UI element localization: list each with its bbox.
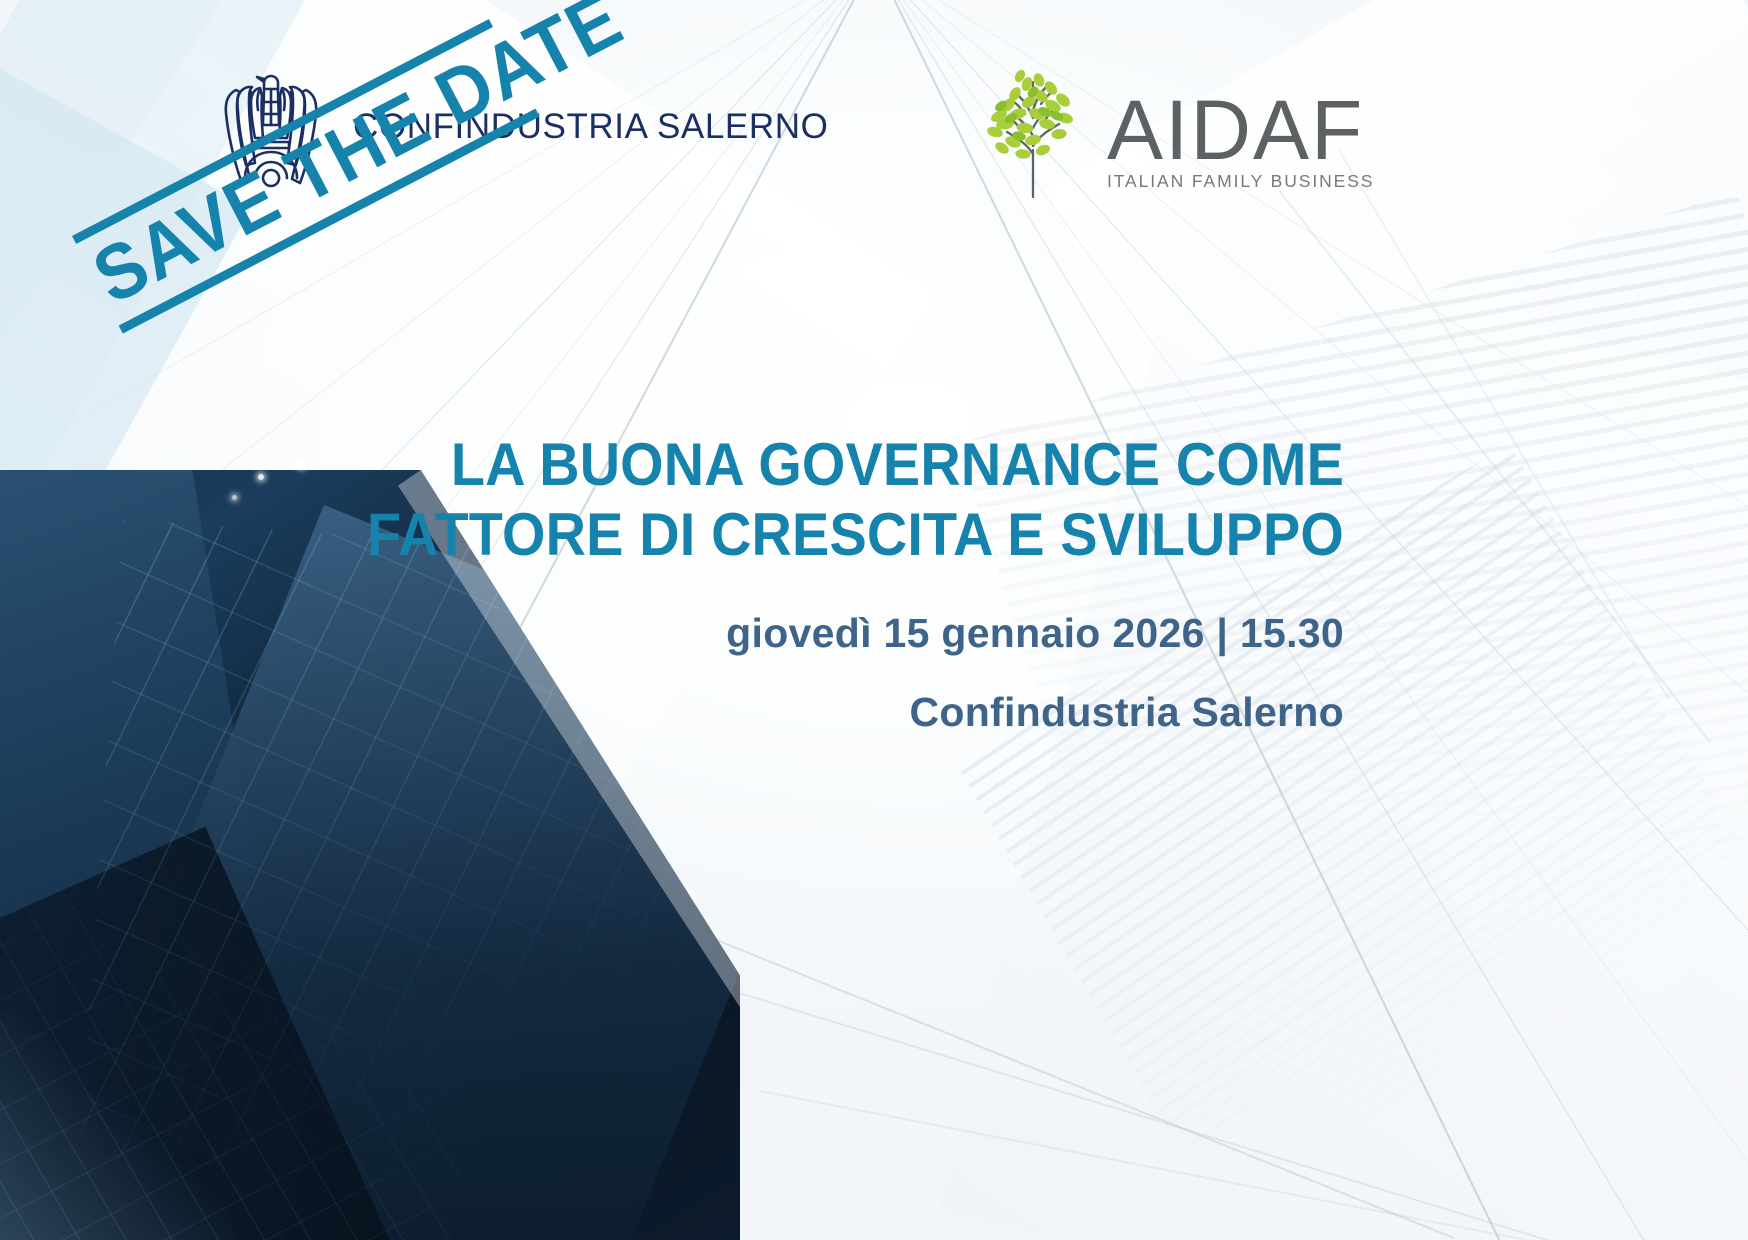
bokeh-dot (258, 474, 264, 480)
headline-line-2: FATTORE DI CRESCITA E SVILUPPO (358, 500, 1344, 570)
save-the-date-poster: CONFINDUSTRIA SALERNO (0, 0, 1748, 1240)
aidaf-tagline: ITALIAN FAMILY BUSINESS (1107, 171, 1374, 192)
event-headline: LA BUONA GOVERNANCE COME FATTORE DI CRES… (284, 430, 1344, 570)
aidaf-logo: AIDAF ITALIAN FAMILY BUSINESS (975, 58, 1374, 198)
event-date-time: giovedì 15 gennaio 2026 | 15.30 (284, 612, 1344, 655)
aidaf-wordmark: AIDAF (1107, 94, 1374, 166)
aidaf-tree-icon (975, 58, 1093, 198)
event-venue: Confindustria Salerno (284, 691, 1344, 734)
event-details: giovedì 15 gennaio 2026 | 15.30 Confindu… (284, 612, 1344, 734)
bokeh-dot (232, 495, 237, 500)
aidaf-text-block: AIDAF ITALIAN FAMILY BUSINESS (1107, 94, 1374, 198)
headline-line-1: LA BUONA GOVERNANCE COME (358, 430, 1344, 500)
